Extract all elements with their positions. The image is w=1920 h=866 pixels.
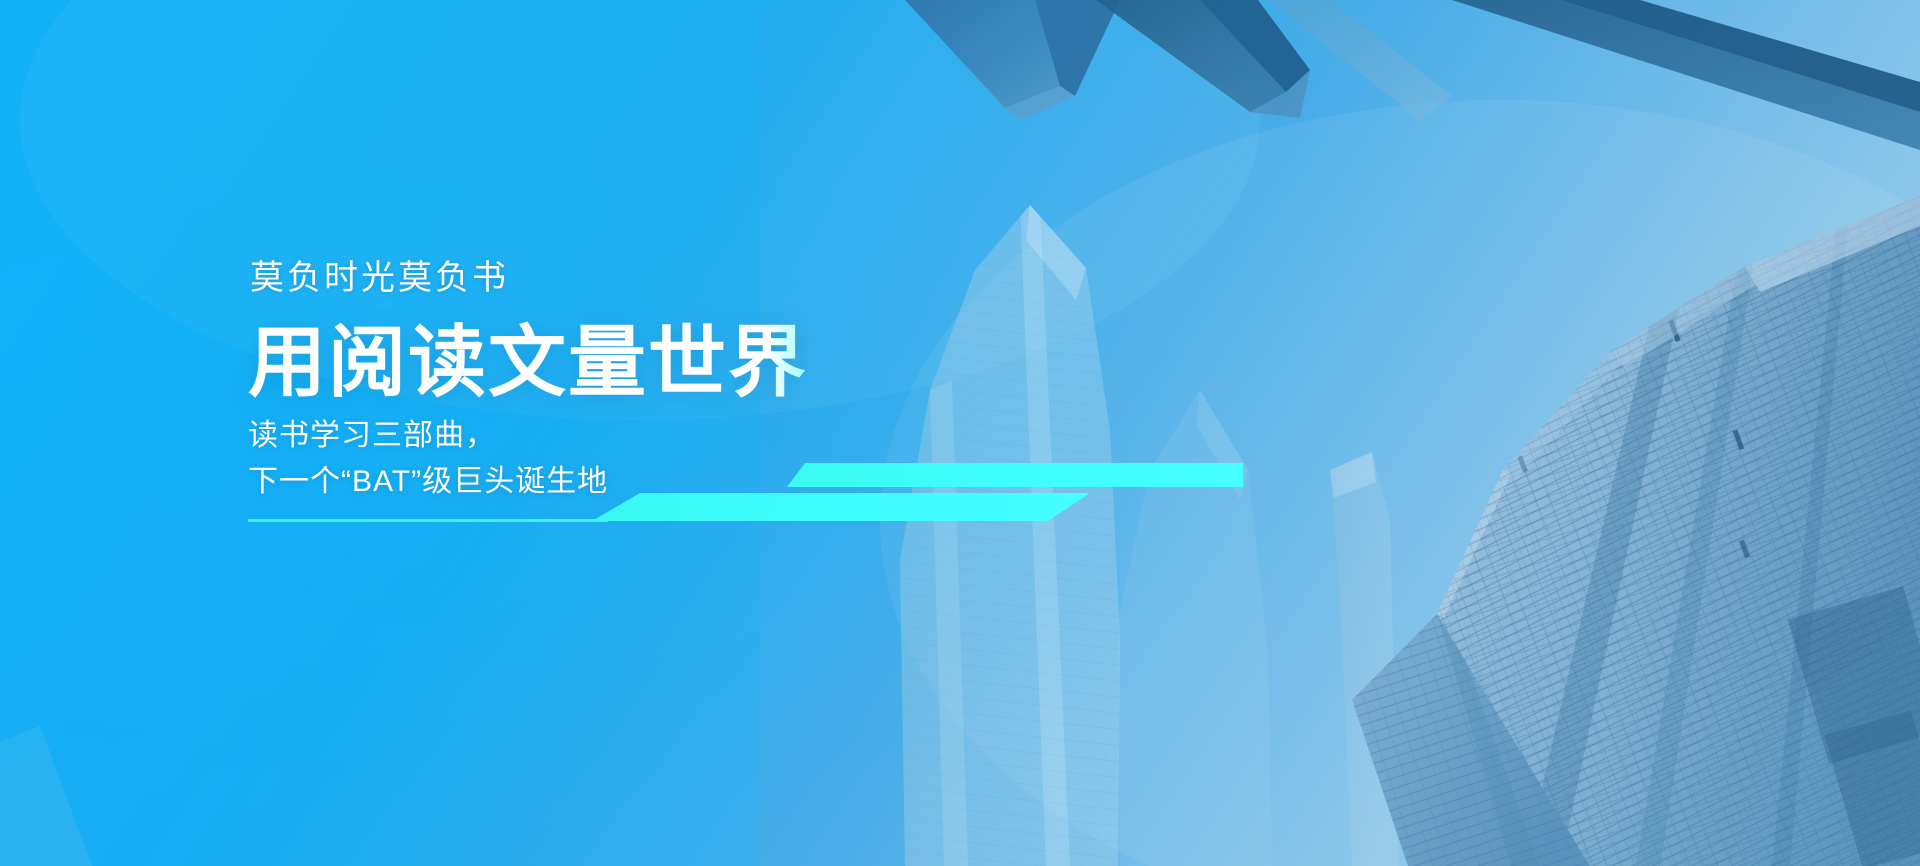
banner-copy: 莫负时光莫负书 用阅读文量世界 读书学习三部曲， 下一个“BAT”级巨头诞生地 xyxy=(248,258,1308,505)
banner-headline: 用阅读文量世界 xyxy=(248,321,1308,404)
banner-subtitle-line-1: 读书学习三部曲， xyxy=(248,413,1308,459)
banner-subtitle-line-2: 下一个“BAT”级巨头诞生地 xyxy=(248,459,1308,505)
banner-stage: 莫负时光莫负书 用阅读文量世界 读书学习三部曲， 下一个“BAT”级巨头诞生地 xyxy=(0,0,1920,866)
banner-eyebrow: 莫负时光莫负书 xyxy=(250,258,1308,299)
